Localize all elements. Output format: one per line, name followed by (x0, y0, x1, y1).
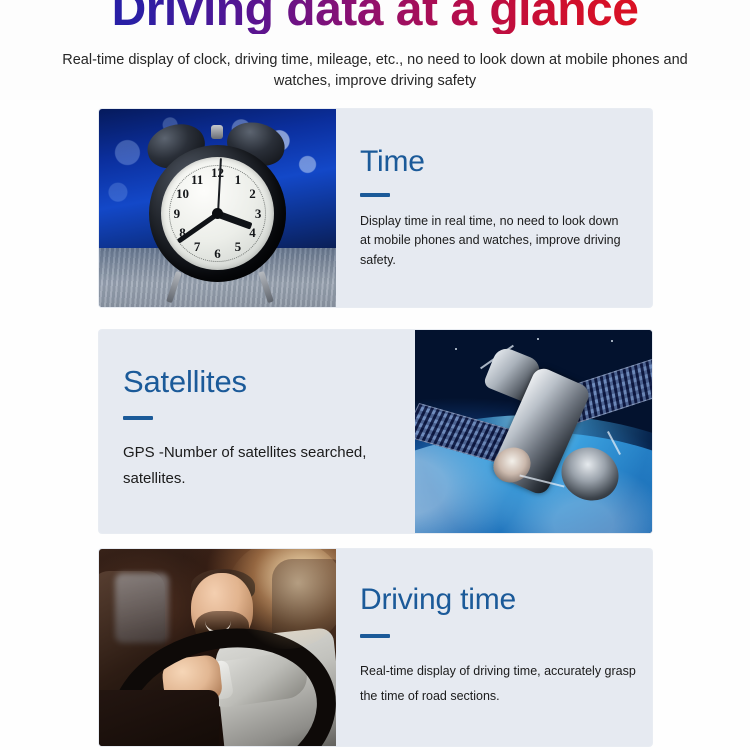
clock-numeral: 11 (191, 172, 203, 188)
card-description-satellites: GPS -Number of satellites searched, sate… (123, 440, 393, 493)
clock-center-pin (212, 208, 223, 219)
feature-card-satellites: Satellites GPS -Number of satellites sea… (99, 330, 652, 533)
card-heading-time: Time (360, 145, 425, 179)
card-body-satellites: Satellites GPS -Number of satellites sea… (99, 330, 415, 533)
card-description-driving-time: Real-time display of driving time, accur… (360, 659, 640, 709)
clock-numeral: 10 (176, 186, 189, 202)
promo-page: Driving data at a glance Real-time displ… (0, 0, 750, 750)
clock-hammer (211, 125, 223, 139)
clock-face: 12 1 2 3 4 5 6 7 8 9 10 11 (161, 157, 274, 270)
car-window (115, 573, 169, 643)
alarm-clock-photo: 12 1 2 3 4 5 6 7 8 9 10 11 (99, 109, 336, 307)
clock-numeral: 5 (235, 239, 242, 255)
card-accent-rule (360, 634, 390, 638)
satellite-photo (415, 330, 652, 533)
clock-numeral: 9 (174, 206, 181, 222)
feature-card-time: 12 1 2 3 4 5 6 7 8 9 10 11 (99, 109, 652, 307)
clock-numeral: 7 (194, 239, 201, 255)
feature-card-driving-time: Driving time Real-time display of drivin… (99, 549, 652, 746)
clock-numeral: 2 (249, 186, 256, 202)
clock-case: 12 1 2 3 4 5 6 7 8 9 10 11 (149, 145, 286, 282)
clock-numeral: 3 (255, 206, 262, 222)
star-speck (455, 348, 457, 350)
card-heading-satellites: Satellites (123, 364, 247, 400)
clock-numeral: 12 (211, 165, 224, 181)
driver-photo (99, 549, 336, 746)
card-accent-rule (123, 416, 153, 420)
card-description-time: Display time in real time, no need to lo… (360, 212, 622, 270)
star-speck (611, 340, 613, 342)
page-subtitle: Real-time display of clock, driving time… (60, 50, 690, 92)
page-header: Driving data at a glance Real-time displ… (0, 0, 750, 100)
clock-numeral: 6 (214, 246, 221, 262)
card-accent-rule (360, 193, 390, 197)
car-dashboard (99, 690, 219, 746)
card-heading-driving-time: Driving time (360, 583, 516, 617)
star-speck (537, 338, 539, 340)
card-body-time: Time Display time in real time, no need … (336, 109, 652, 307)
clock-numeral: 1 (235, 172, 242, 188)
card-body-driving-time: Driving time Real-time display of drivin… (336, 549, 652, 746)
page-title: Driving data at a glance (0, 0, 750, 34)
